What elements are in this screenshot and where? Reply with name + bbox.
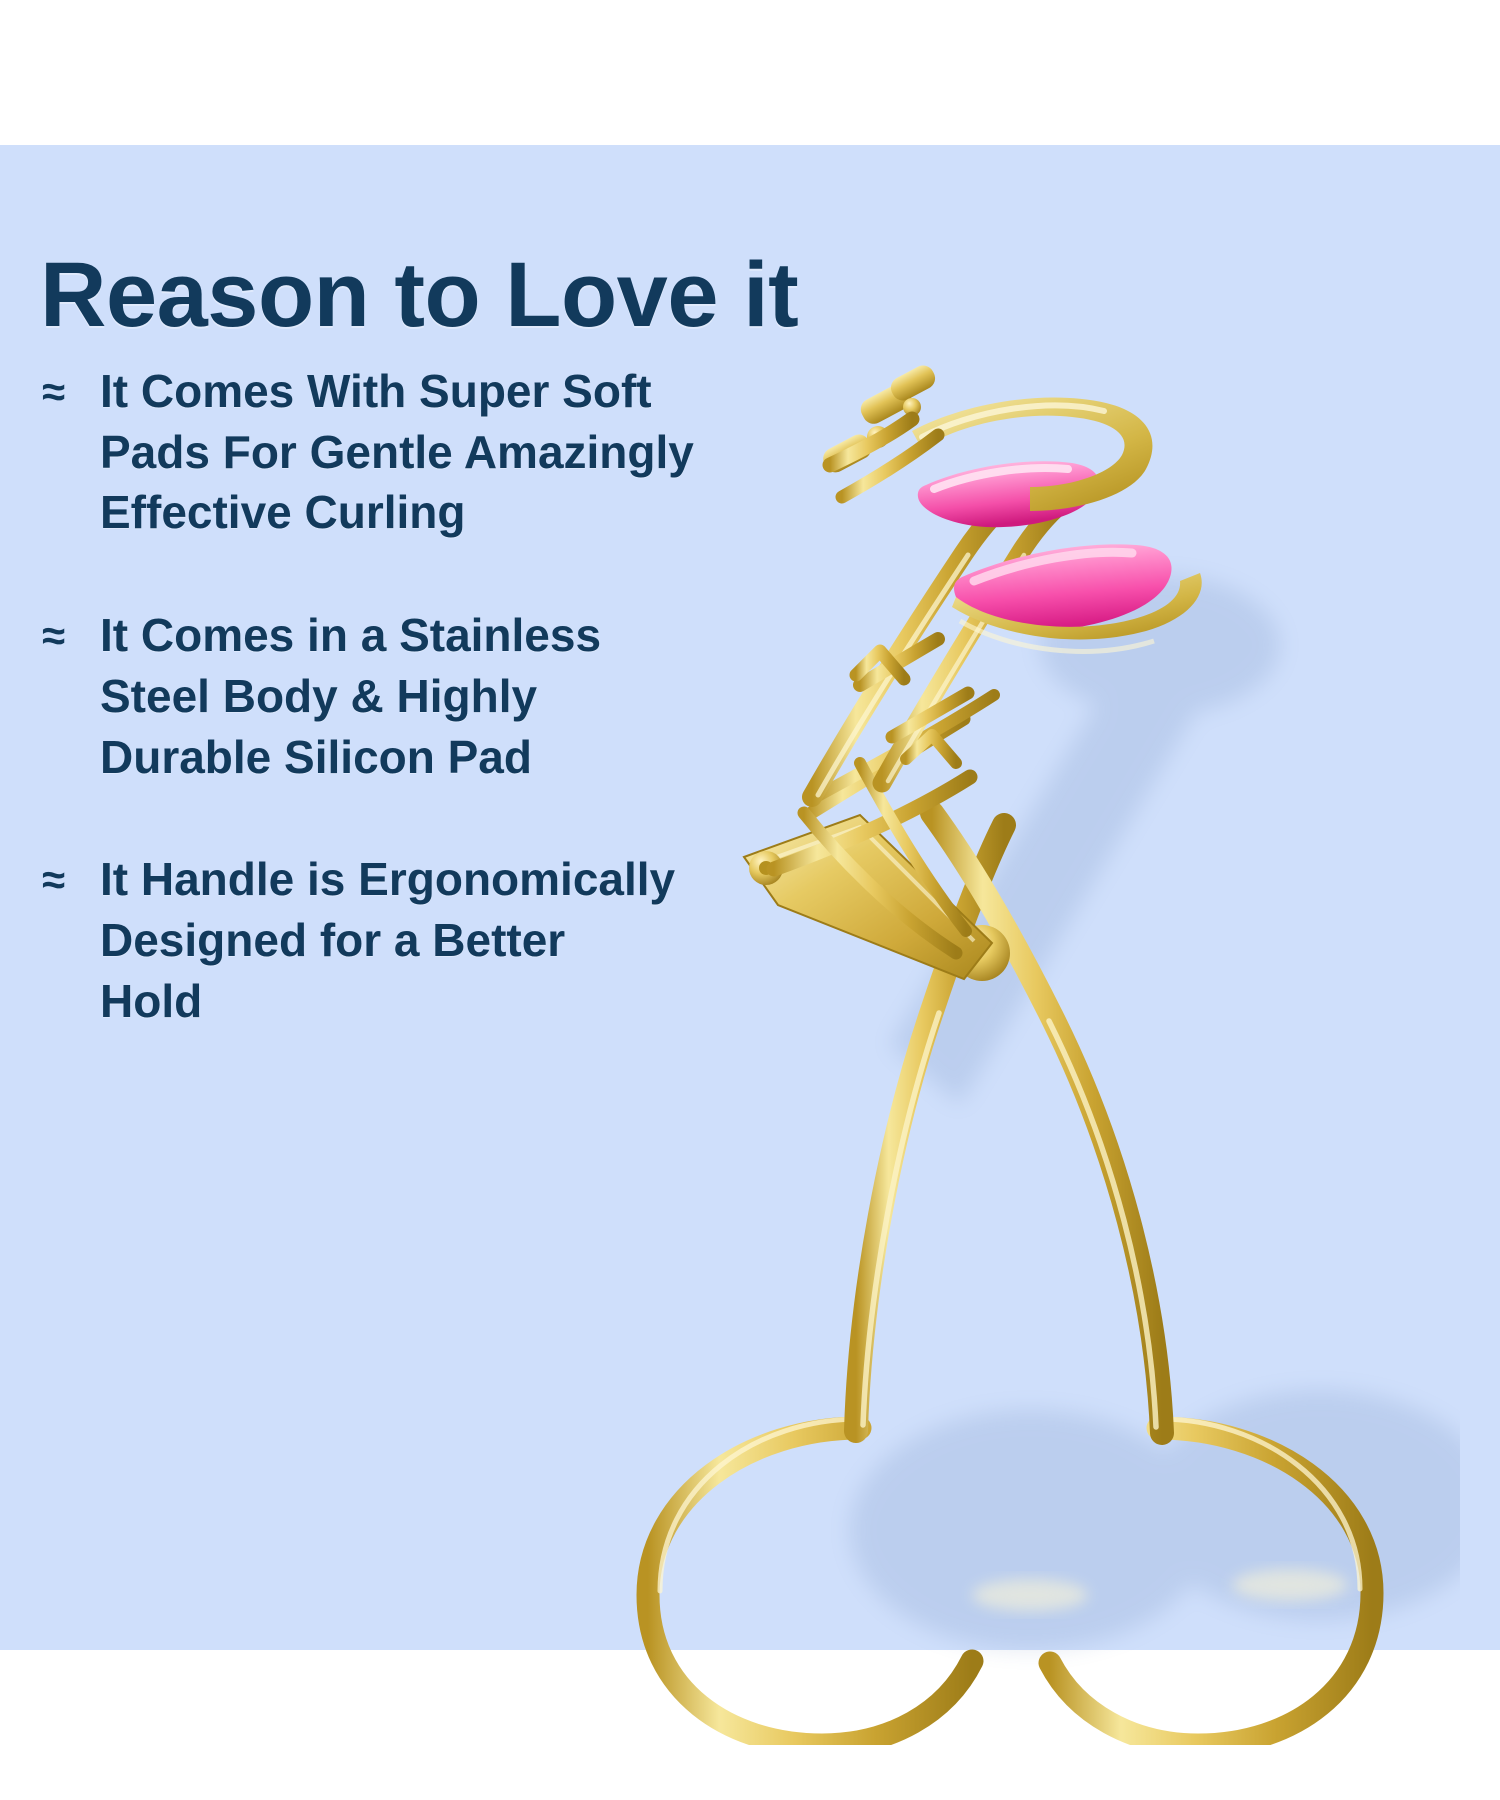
- curler-arm-front: [932, 813, 1162, 1433]
- curler-upper-jaw: [819, 362, 1152, 528]
- pivot-knob: [954, 925, 1010, 981]
- curler-arm-back: [856, 825, 1004, 1431]
- content-panel: Reason to Love it ≈ It Comes With Super …: [0, 145, 1500, 1650]
- left-finger-loop: [648, 1419, 972, 1745]
- approx-bullet-icon: ≈: [36, 849, 100, 911]
- list-item: ≈ It Comes in a Stainless Steel Body & H…: [36, 605, 856, 787]
- feature-text: It Comes in a Stainless Steel Body & Hig…: [100, 605, 856, 787]
- approx-bullet-icon: ≈: [36, 361, 100, 423]
- pink-silicone-pad-upper: [918, 461, 1099, 527]
- marketing-graphic: Reason to Love it ≈ It Comes With Super …: [0, 0, 1500, 1800]
- right-finger-loop: [1050, 1419, 1372, 1745]
- curler-lower-jaw: [952, 544, 1202, 651]
- metal-highlights: [972, 1569, 1348, 1611]
- list-item: ≈ It Handle is Ergonomically Designed fo…: [36, 849, 856, 1031]
- list-item: ≈ It Comes With Super Soft Pads For Gent…: [36, 361, 856, 543]
- feature-text: It Handle is Ergonomically Designed for …: [100, 849, 856, 1031]
- pink-silicone-pad-lower: [954, 544, 1172, 631]
- approx-bullet-icon: ≈: [36, 605, 100, 667]
- page-title: Reason to Love it: [40, 249, 798, 341]
- feature-text: It Comes With Super Soft Pads For Gentle…: [100, 361, 856, 543]
- feature-list: ≈ It Comes With Super Soft Pads For Gent…: [36, 361, 856, 1093]
- product-shadow: [850, 575, 1460, 1650]
